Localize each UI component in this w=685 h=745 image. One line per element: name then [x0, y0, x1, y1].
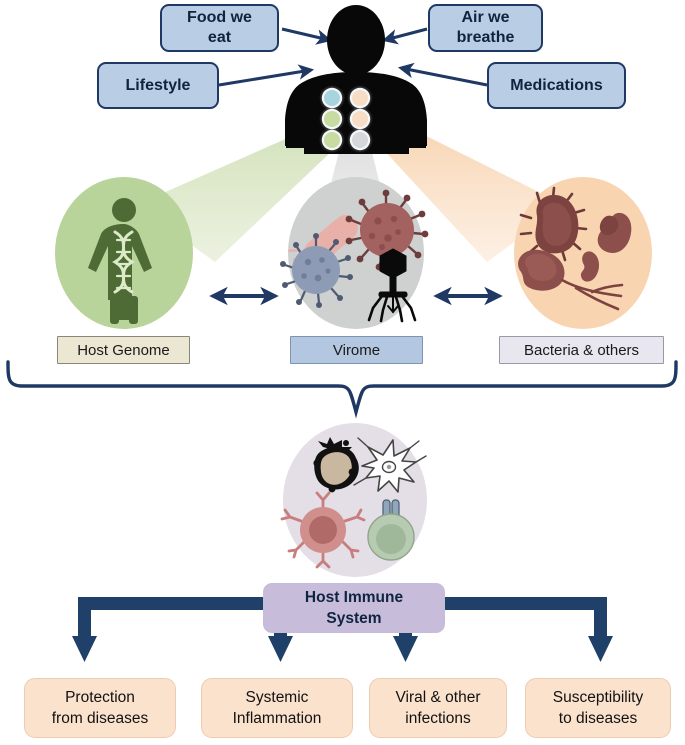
distribution-arrows-layer	[0, 0, 685, 745]
figure-canvas: Food weeat Air webreathe Lifestyle Medic…	[0, 0, 685, 745]
outcome-box-protection-from-diseases[interactable]: Protectionfrom diseases	[24, 678, 176, 738]
outcome-box-systemic-inflammation[interactable]: SystemicInflammation	[201, 678, 353, 738]
outcome-label: SystemicInflammation	[233, 687, 322, 729]
host-immune-system-box[interactable]: Host ImmuneSystem	[263, 583, 445, 633]
outcome-label: Susceptibilityto diseases	[553, 687, 643, 729]
outcome-box-susceptibility-to-diseases[interactable]: Susceptibilityto diseases	[525, 678, 671, 738]
outcome-label: Protectionfrom diseases	[52, 687, 148, 729]
outcome-label: Viral & otherinfections	[395, 687, 480, 729]
outcome-box-viral-and-other-infections[interactable]: Viral & otherinfections	[369, 678, 507, 738]
host-immune-system-label: Host ImmuneSystem	[305, 587, 403, 629]
